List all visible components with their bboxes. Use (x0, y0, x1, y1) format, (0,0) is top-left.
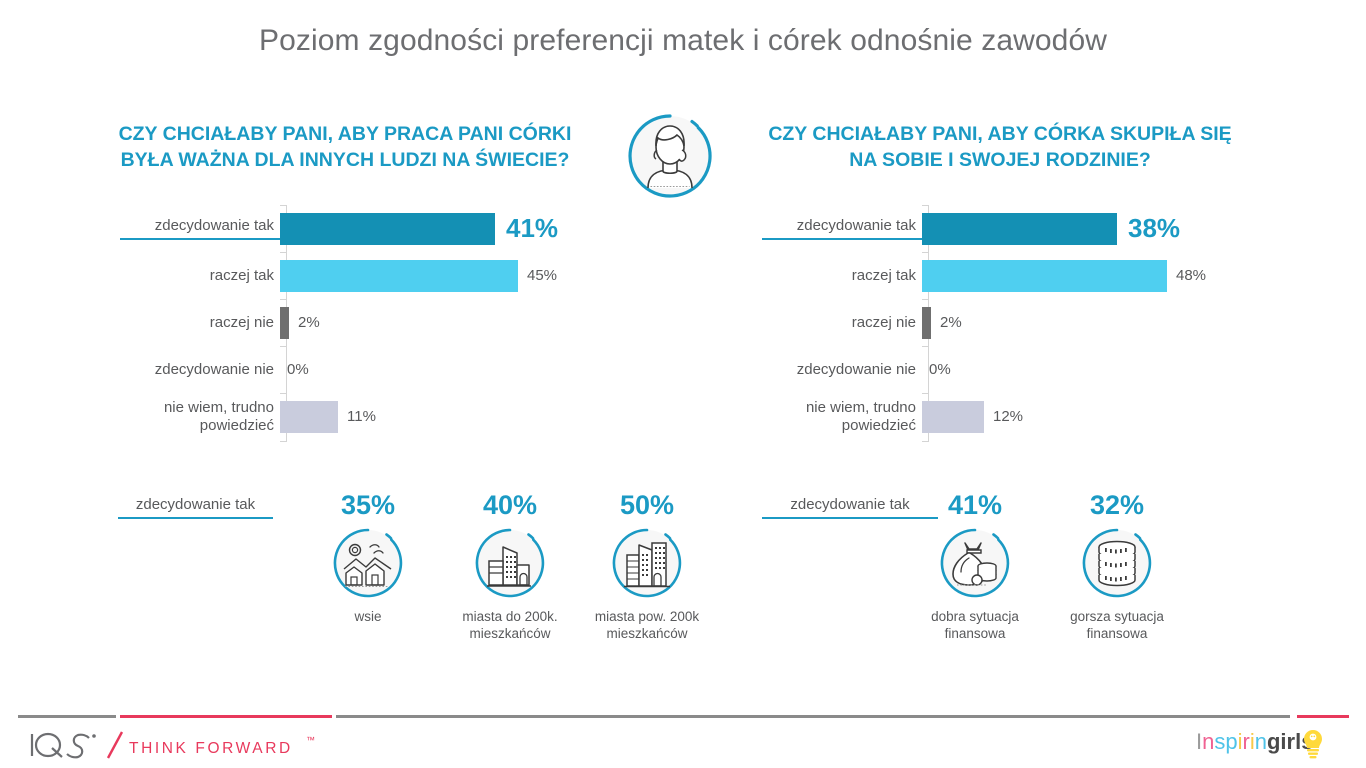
bar-fill (280, 260, 518, 292)
bar-fill (280, 401, 338, 433)
woman-portrait-icon (624, 110, 716, 202)
question-heading-right: CZY CHCIAŁABY PANI, ABY CÓRKA SKUPIŁA SI… (720, 122, 1280, 174)
stat-caption: gorsza sytuacja finansowa (1047, 609, 1187, 643)
inspiring-girls-logo: Inspiringirls (1196, 722, 1346, 767)
question-heading-left: CZY CHCIAŁABY PANI, ABY PRACA PANI CÓRKI… (60, 122, 630, 174)
bar-area: 0% (922, 346, 1282, 393)
bar-category-label-line1: nie wiem, trudno (806, 399, 916, 416)
bar-category-label: raczej tak (762, 267, 922, 285)
bar-category-label: zdecydowanie nie (762, 361, 922, 379)
bar-row: zdecydowanie nie 0% (762, 346, 1282, 393)
svg-text:™: ™ (306, 735, 315, 745)
bar-category-label: zdecydowanie tak (120, 217, 280, 240)
stat-worse-finances: 32% (1047, 492, 1187, 643)
stat-percent: 40% (440, 492, 580, 519)
breakdown-right: zdecydowanie tak 41% (762, 492, 1202, 672)
stat-caption-line2: mieszkańców (469, 626, 550, 641)
stat-percent: 41% (905, 492, 1045, 519)
bar-area: 12% (922, 393, 1282, 440)
bar-fill (922, 213, 1117, 245)
bar-value-label: 0% (287, 361, 309, 378)
bar-row: zdecydowanie nie 0% (120, 346, 640, 393)
stat-caption-line1: miasta pow. 200k (595, 609, 699, 624)
bar-area: 11% (280, 393, 640, 440)
bar-chart-right: zdecydowanie tak 38% raczej tak 48% racz… (762, 205, 1282, 445)
bar-value-label: 41% (506, 213, 558, 244)
stat-caption-line2: finansowa (945, 626, 1006, 641)
bar-fill (922, 260, 1167, 292)
svg-text:Inspiringirls: Inspiringirls (1196, 729, 1313, 754)
bar-value-label: 45% (527, 267, 557, 284)
bar-category-label: raczej nie (120, 314, 280, 332)
bar-row: nie wiem, trudno powiedzieć 11% (120, 393, 640, 440)
bar-category-label: zdecydowanie nie (120, 361, 280, 379)
bar-value-label: 2% (940, 314, 962, 331)
footer-divider-red (120, 715, 332, 718)
bar-area: 45% (280, 252, 640, 299)
bar-fill (280, 213, 495, 245)
stat-small-city: 40% (440, 492, 580, 643)
bar-row: raczej nie 2% (762, 299, 1282, 346)
stat-caption: miasta do 200k. mieszkańców (440, 609, 580, 643)
bar-area: 2% (922, 299, 1282, 346)
iqs-logo: THINK FORWARD ™ (28, 728, 328, 758)
bar-row: zdecydowanie tak 41% (120, 205, 640, 252)
question-heading-right-line2: NA SOBIE I SWOJEJ RODZINIE? (720, 148, 1280, 174)
footer-divider-gray-left (18, 715, 116, 718)
stat-percent: 35% (298, 492, 438, 519)
bar-value-label: 0% (929, 361, 951, 378)
small-city-icon (472, 525, 548, 601)
bar-category-label: zdecydowanie tak (762, 217, 922, 240)
bar-category-label-line1: nie wiem, trudno (164, 399, 274, 416)
bar-category-label: nie wiem, trudno powiedzieć (762, 399, 922, 434)
stat-caption-line2: mieszkańców (606, 626, 687, 641)
page-title: Poziom zgodności preferencji matek i cór… (0, 24, 1366, 58)
stat-caption: wsie (298, 609, 438, 626)
bar-area: 48% (922, 252, 1282, 299)
bar-fill (922, 307, 931, 339)
bar-category-label: raczej nie (762, 314, 922, 332)
stat-caption-line2: finansowa (1087, 626, 1148, 641)
bar-value-label: 11% (347, 408, 376, 425)
bar-value-label: 12% (993, 408, 1023, 425)
bar-category-label-line2: powiedzieć (200, 417, 274, 434)
bar-area: 38% (922, 205, 1282, 252)
bar-value-label: 38% (1128, 213, 1180, 244)
bar-value-label: 48% (1176, 267, 1206, 284)
bar-area: 2% (280, 299, 640, 346)
stat-village: 35% wsie (298, 492, 438, 626)
stat-big-city: 50% (577, 492, 717, 643)
footer-divider-red-right (1297, 715, 1349, 718)
breakdown-left-label: zdecydowanie tak (118, 496, 273, 519)
stat-caption: dobra sytuacja finansowa (905, 609, 1045, 643)
coin-stack-icon (1079, 525, 1155, 601)
stat-good-finances: 41% dobra (905, 492, 1045, 643)
lightbulb-icon (1304, 730, 1322, 758)
stat-caption-line1: gorsza sytuacja (1070, 609, 1164, 624)
bar-fill (922, 401, 984, 433)
axis-tick (280, 441, 287, 442)
stat-caption-line1: miasta do 200k. (462, 609, 557, 624)
bar-fill (280, 307, 289, 339)
bar-area: 0% (280, 346, 640, 393)
axis-tick (922, 441, 929, 442)
money-bag-icon (937, 525, 1013, 601)
slide-root: Poziom zgodności preferencji matek i cór… (0, 0, 1366, 768)
bar-row: raczej tak 45% (120, 252, 640, 299)
bar-row: zdecydowanie tak 38% (762, 205, 1282, 252)
bar-category-label-line2: powiedzieć (842, 417, 916, 434)
stat-caption-line1: dobra sytuacja (931, 609, 1019, 624)
bar-area: 41% (280, 205, 640, 252)
question-heading-left-line1: CZY CHCIAŁABY PANI, ABY PRACA PANI CÓRKI (60, 122, 630, 148)
question-heading-left-line2: BYŁA WAŻNA DLA INNYCH LUDZI NA ŚWIECIE? (60, 148, 630, 174)
bar-row: raczej tak 48% (762, 252, 1282, 299)
question-heading-right-line1: CZY CHCIAŁABY PANI, ABY CÓRKA SKUPIŁA SI… (720, 122, 1280, 148)
village-icon (330, 525, 406, 601)
breakdown-left: zdecydowanie tak 35% (118, 492, 698, 672)
stat-caption: miasta pow. 200k mieszkańców (577, 609, 717, 643)
big-city-icon (609, 525, 685, 601)
stat-percent: 32% (1047, 492, 1187, 519)
svg-text:THINK FORWARD: THINK FORWARD (129, 740, 293, 757)
stat-percent: 50% (577, 492, 717, 519)
footer-divider-gray (336, 715, 1290, 718)
bar-value-label: 2% (298, 314, 320, 331)
bar-category-label: raczej tak (120, 267, 280, 285)
bar-row: nie wiem, trudno powiedzieć 12% (762, 393, 1282, 440)
bar-category-label: nie wiem, trudno powiedzieć (120, 399, 280, 434)
bar-chart-left: zdecydowanie tak 41% raczej tak 45% racz… (120, 205, 640, 445)
bar-row: raczej nie 2% (120, 299, 640, 346)
